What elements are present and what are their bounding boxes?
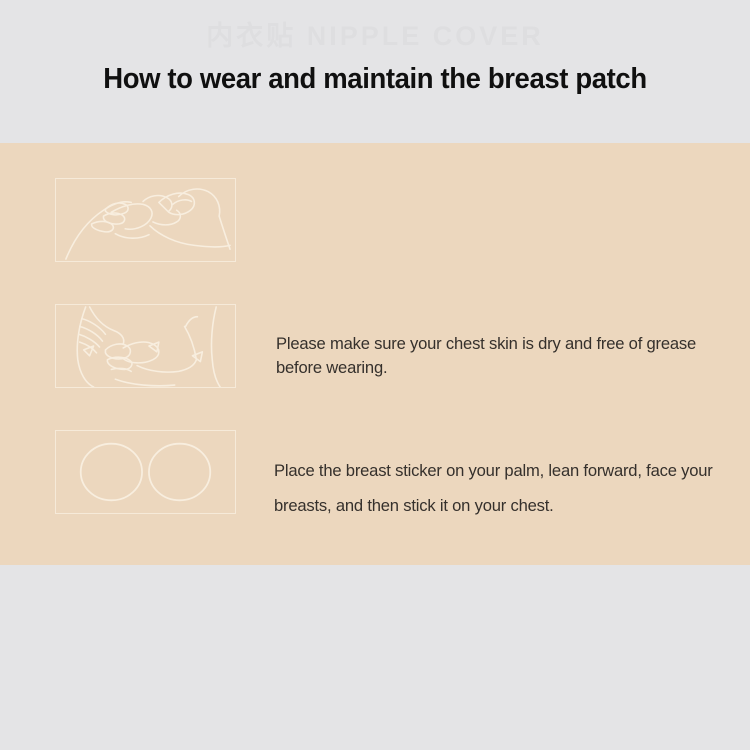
page-title: How to wear and maintain the breast patc…: [13, 63, 737, 96]
hand-applying-patch-to-chest-icon: [55, 304, 236, 388]
notice-band: Do not use mixed washing machines, do no…: [0, 565, 750, 750]
steps-panel: Please make sure your chest skin is dry …: [0, 143, 750, 565]
step-1-text: Please make sure your chest skin is dry …: [276, 332, 701, 380]
header-watermark: 内衣贴 NIPPLE COVER: [0, 14, 750, 53]
two-round-patches-icon: [55, 430, 236, 514]
infographic-page: 内衣贴 NIPPLE COVER How to wear and maintai…: [0, 0, 750, 750]
two-hands-checking-skin-icon: [55, 178, 236, 262]
step-2-text: Place the breast sticker on your palm, l…: [274, 453, 719, 523]
header-band: 内衣贴 NIPPLE COVER How to wear and maintai…: [0, 0, 750, 143]
